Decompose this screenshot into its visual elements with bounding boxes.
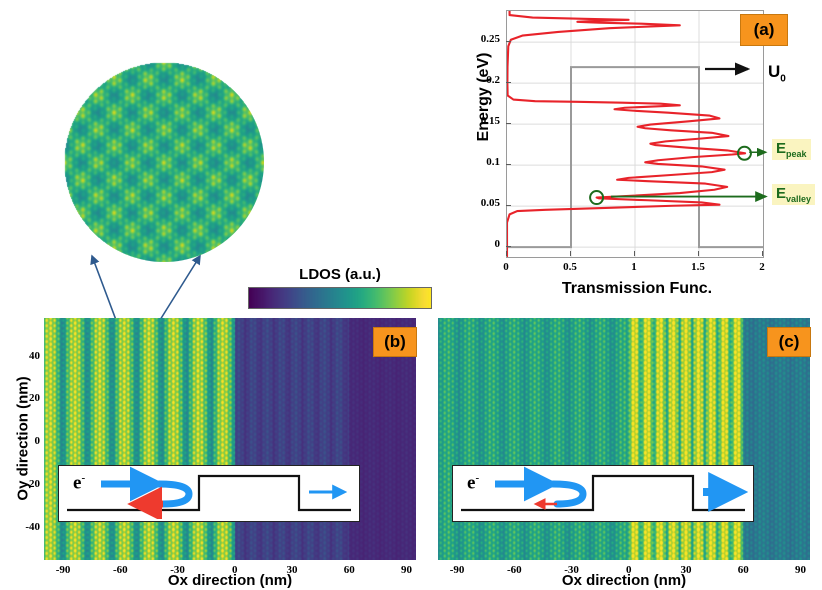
- panel-b: (b) Ox direction (nm) Oy direction (nm) …: [0, 310, 420, 590]
- colorbar: [248, 287, 432, 309]
- panel-c-xtick-label: 0: [609, 564, 649, 576]
- e-valley-label: Evalley: [772, 184, 815, 205]
- panel-b-ytick-label: 0: [10, 435, 40, 447]
- panel-c: (c) Ox direction (nm) e- -90-60-30030609…: [420, 310, 822, 590]
- panel-b-ytick-label: -40: [10, 521, 40, 533]
- panel-c-xtick-label: 60: [723, 564, 763, 576]
- electron-label: e-: [73, 472, 85, 494]
- electron-label: e-: [467, 472, 479, 494]
- e-peak-label: Epeak: [772, 139, 811, 160]
- sch-b-svg: [59, 466, 357, 519]
- panel-b-ytick-label: -20: [10, 478, 40, 490]
- panel-c-xtick-label: -30: [552, 564, 592, 576]
- panel-b-xtick-label: -30: [158, 564, 198, 576]
- panel-b-ytick-label: 40: [10, 350, 40, 362]
- panel-b-xtick-label: 30: [272, 564, 312, 576]
- panel-c-xtick-label: 90: [780, 564, 820, 576]
- panel-b-heatmap: [44, 318, 416, 560]
- panel-b-ytick-label: 20: [10, 392, 40, 404]
- panel-c-schematic: e-: [452, 465, 754, 522]
- panel-c-xtick-label: -90: [437, 564, 477, 576]
- panel-c-xtick-label: 30: [666, 564, 706, 576]
- panel-b-label: (b): [373, 327, 417, 357]
- sch-c-svg: [453, 466, 751, 519]
- panel-b-schematic: e-: [58, 465, 360, 522]
- panel-c-heatmap: [438, 318, 810, 560]
- figure-root: (a) Energy (eV) Transmission Func. U0 00…: [0, 0, 822, 590]
- panel-c-xtick-label: -60: [494, 564, 534, 576]
- panel-b-xtick-label: -60: [100, 564, 140, 576]
- colorbar-title: LDOS (a.u.): [260, 266, 420, 283]
- panel-b-xtick-label: -90: [43, 564, 83, 576]
- panel-b-xtick-label: 0: [215, 564, 255, 576]
- panel-c-label: (c): [767, 327, 811, 357]
- panel-b-xtick-label: 60: [329, 564, 369, 576]
